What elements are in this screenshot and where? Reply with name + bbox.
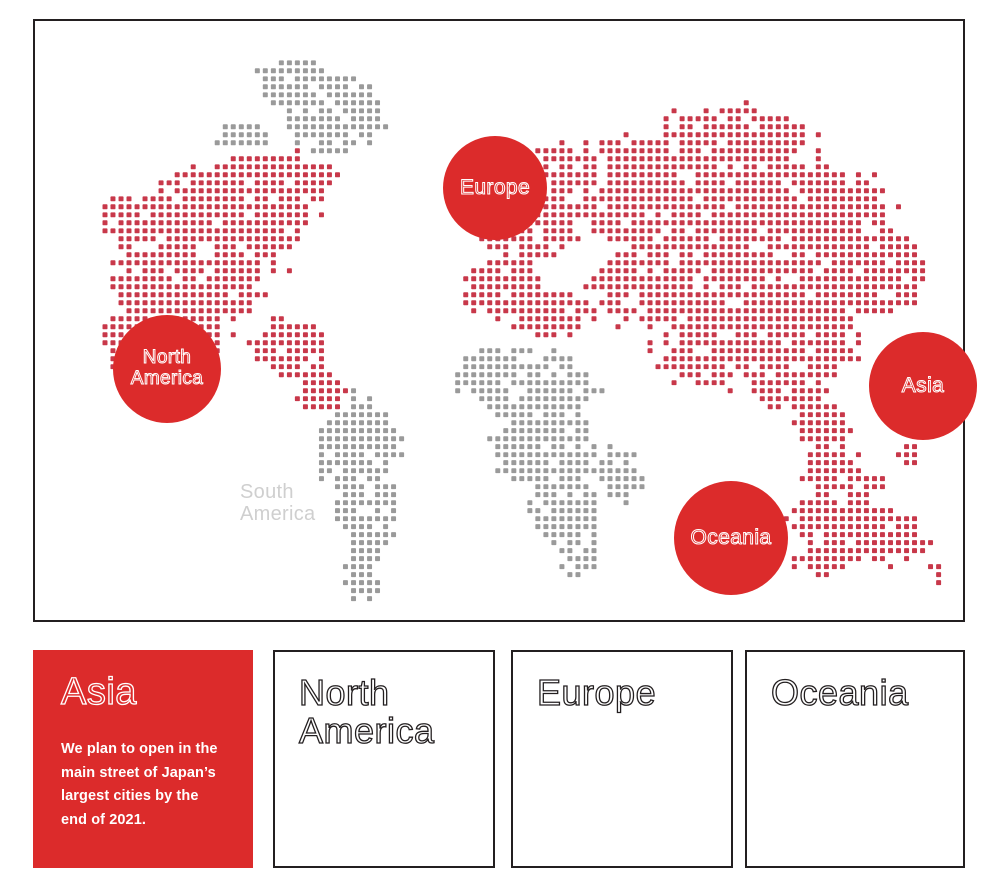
map-bubble-oceania[interactable]: Oceania (674, 481, 788, 595)
region-card-europe[interactable]: Europe (511, 650, 733, 868)
map-bubble-label-europe: Europe (460, 177, 530, 200)
region-card-oceania[interactable]: Oceania (745, 650, 965, 868)
region-card-title-europe: Europe (537, 674, 707, 712)
map-bubble-asia[interactable]: Asia (869, 332, 977, 440)
map-bubble-label-asia: Asia (902, 375, 944, 398)
map-bubble-label-north-america: North America (131, 348, 203, 389)
map-label-south-america: South America (240, 481, 315, 526)
map-bubble-label-oceania: Oceania (690, 527, 771, 550)
world-map-panel: South America North America Europe Asia … (33, 19, 965, 622)
region-card-title-asia: Asia (61, 672, 227, 712)
region-card-title-north-america: North America (299, 674, 469, 750)
region-card-north-america[interactable]: North America (273, 650, 495, 868)
map-bubble-north-america[interactable]: North America (113, 315, 221, 423)
region-card-title-oceania: Oceania (771, 674, 939, 712)
region-card-body-asia: We plan to open in the main street of Ja… (61, 738, 227, 832)
map-bubble-europe[interactable]: Europe (443, 136, 547, 240)
region-card-row: Asia We plan to open in the main street … (33, 650, 965, 868)
region-card-asia[interactable]: Asia We plan to open in the main street … (33, 650, 253, 868)
